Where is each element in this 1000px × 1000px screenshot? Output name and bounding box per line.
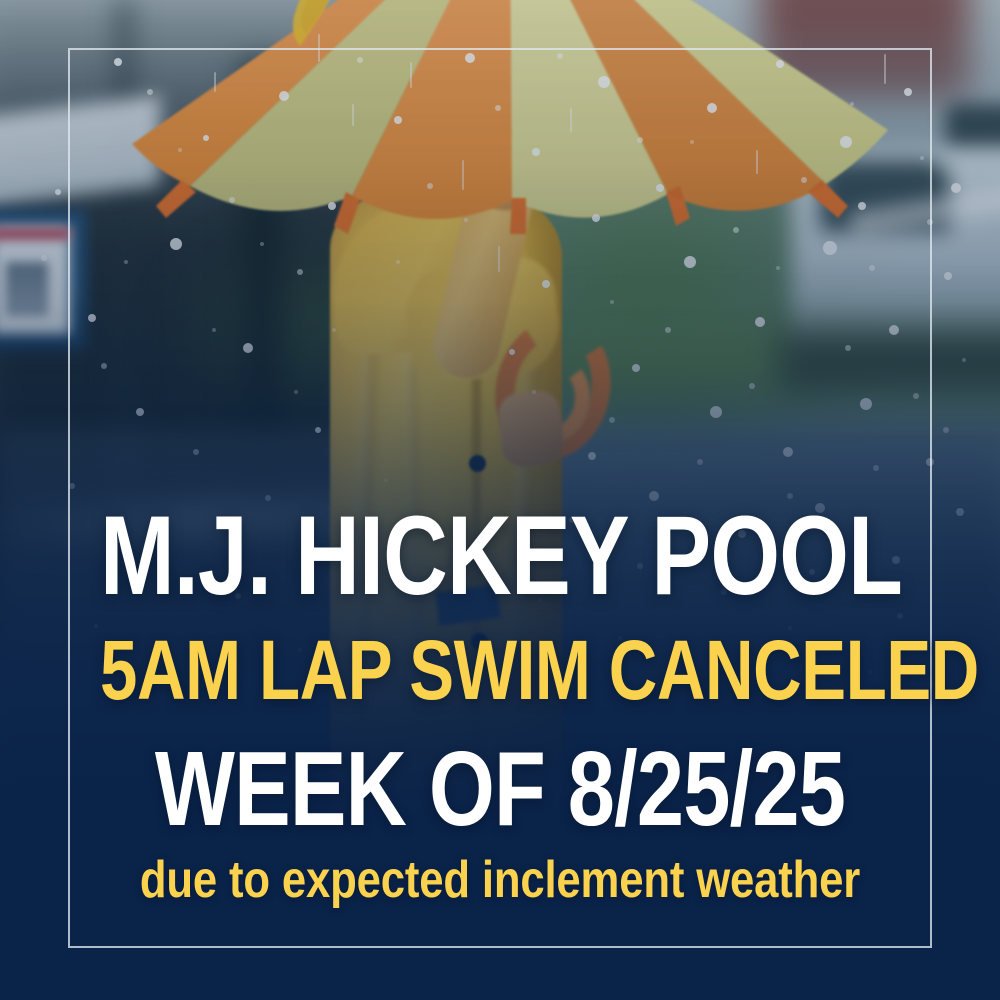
- coat-button: [469, 455, 486, 472]
- coat-button: [471, 633, 488, 650]
- background-photo: [0, 0, 1000, 1000]
- poster-canvas: M.J. HICKEY POOL 5AM LAP SWIM CANCELED W…: [0, 0, 1000, 1000]
- coat-hem-patch: [415, 919, 501, 967]
- umbrella-canopy: [120, 0, 900, 280]
- child-lower-hand: [496, 389, 565, 469]
